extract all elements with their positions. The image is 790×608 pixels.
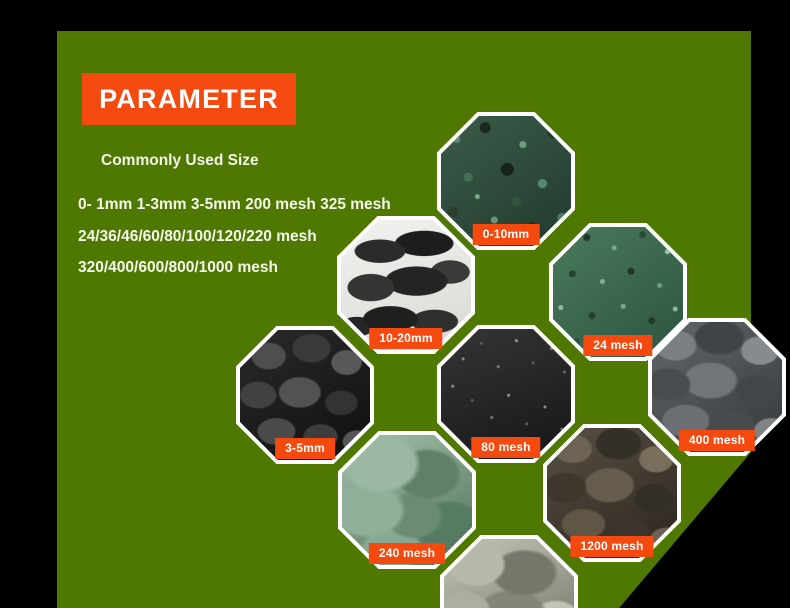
commonly-used-size-subtitle: Commonly Used Size [101,152,259,170]
product-photo [444,539,574,608]
size-label-badge: 0-10mm [473,224,540,245]
product-parameter-panel: PARAMETER Commonly Used Size 0- 1mm 1-3m… [0,0,790,608]
size-label-badge: 400 mesh [679,430,755,451]
size-line-3: 320/400/600/800/1000 mesh [78,259,278,277]
tile-bottom-center[interactable] [440,535,578,608]
size-label-badge: 10-20mm [369,328,442,349]
size-label-badge: 80 mesh [471,437,540,458]
size-label-badge: 1200 mesh [570,536,653,557]
parameter-banner: PARAMETER [82,73,296,125]
size-label-badge: 24 mesh [583,335,652,356]
size-label-badge: 3-5mm [275,438,335,459]
size-label-badge: 240 mesh [369,543,445,564]
parameter-banner-label: PARAMETER [99,84,279,115]
size-line-1: 0- 1mm 1-3mm 3-5mm 200 mesh 325 mesh [78,196,391,214]
size-line-2: 24/36/46/60/80/100/120/220 mesh [78,228,317,246]
